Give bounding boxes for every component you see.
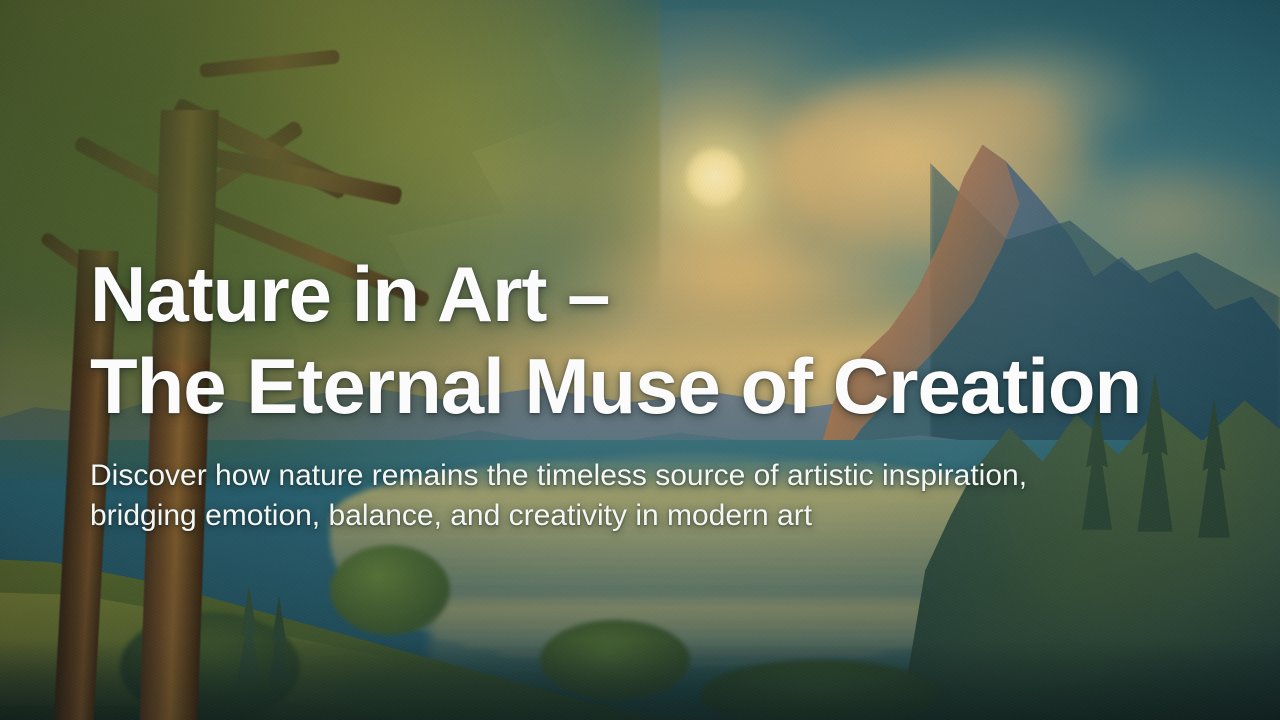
hero-text-block: Nature in Art – The Eternal Muse of Crea… [90,248,1280,536]
hero-slide: Nature in Art – The Eternal Muse of Crea… [0,0,1280,720]
page-title: Nature in Art – The Eternal Muse of Crea… [90,248,1280,432]
page-subtitle: Discover how nature remains the timeless… [90,456,1100,536]
